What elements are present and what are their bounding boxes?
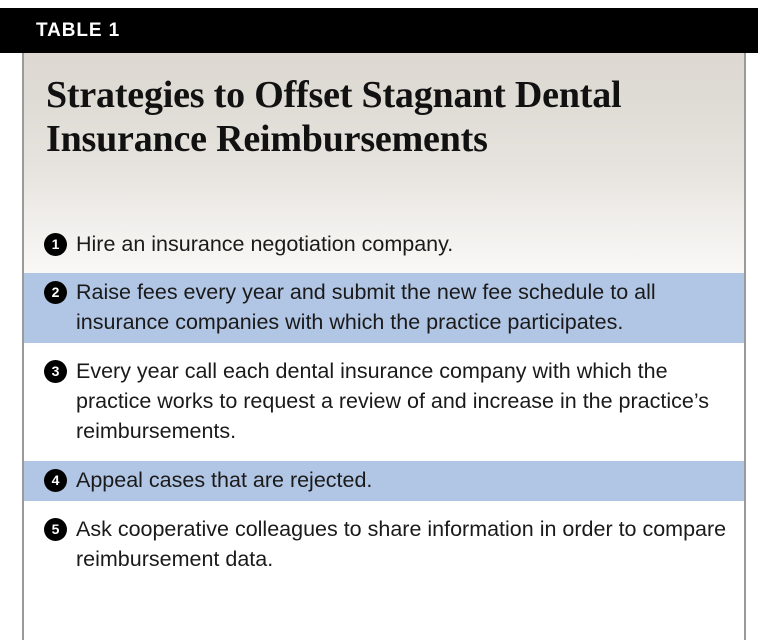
- list-marker-4: 4: [44, 469, 67, 492]
- list-gap: [24, 452, 744, 461]
- list-item-text: Appeal cases that are rejected.: [76, 465, 738, 495]
- list-marker-5: 5: [44, 518, 67, 541]
- list-item: 4 Appeal cases that are rejected.: [24, 461, 744, 501]
- list-marker-1: 1: [44, 233, 67, 256]
- table-title: Strategies to Offset Stagnant Dental Ins…: [46, 73, 686, 161]
- list-item-text: Raise fees every year and submit the new…: [76, 277, 738, 337]
- list-item-text: Hire an insurance negotiation company.: [76, 229, 738, 259]
- list-item: 2 Raise fees every year and submit the n…: [24, 273, 744, 343]
- table-body-panel: Strategies to Offset Stagnant Dental Ins…: [22, 53, 746, 640]
- list-item: 5 Ask cooperative colleagues to share in…: [24, 510, 744, 580]
- strategy-list: 1 Hire an insurance negotiation company.…: [24, 225, 744, 580]
- list-item-text: Every year call each dental insurance co…: [76, 356, 738, 446]
- list-item: 3 Every year call each dental insurance …: [24, 352, 744, 452]
- list-marker-2: 2: [44, 281, 67, 304]
- list-gap: [24, 343, 744, 352]
- table-figure: TABLE 1 Strategies to Offset Stagnant De…: [0, 0, 758, 640]
- list-item: 1 Hire an insurance negotiation company.: [24, 225, 744, 265]
- list-marker-3: 3: [44, 360, 67, 383]
- table-number-label: TABLE 1: [36, 20, 120, 42]
- table-header-bar: TABLE 1: [0, 8, 758, 53]
- list-gap: [24, 501, 744, 510]
- list-item-text: Ask cooperative colleagues to share info…: [76, 514, 738, 574]
- list-gap: [24, 265, 744, 273]
